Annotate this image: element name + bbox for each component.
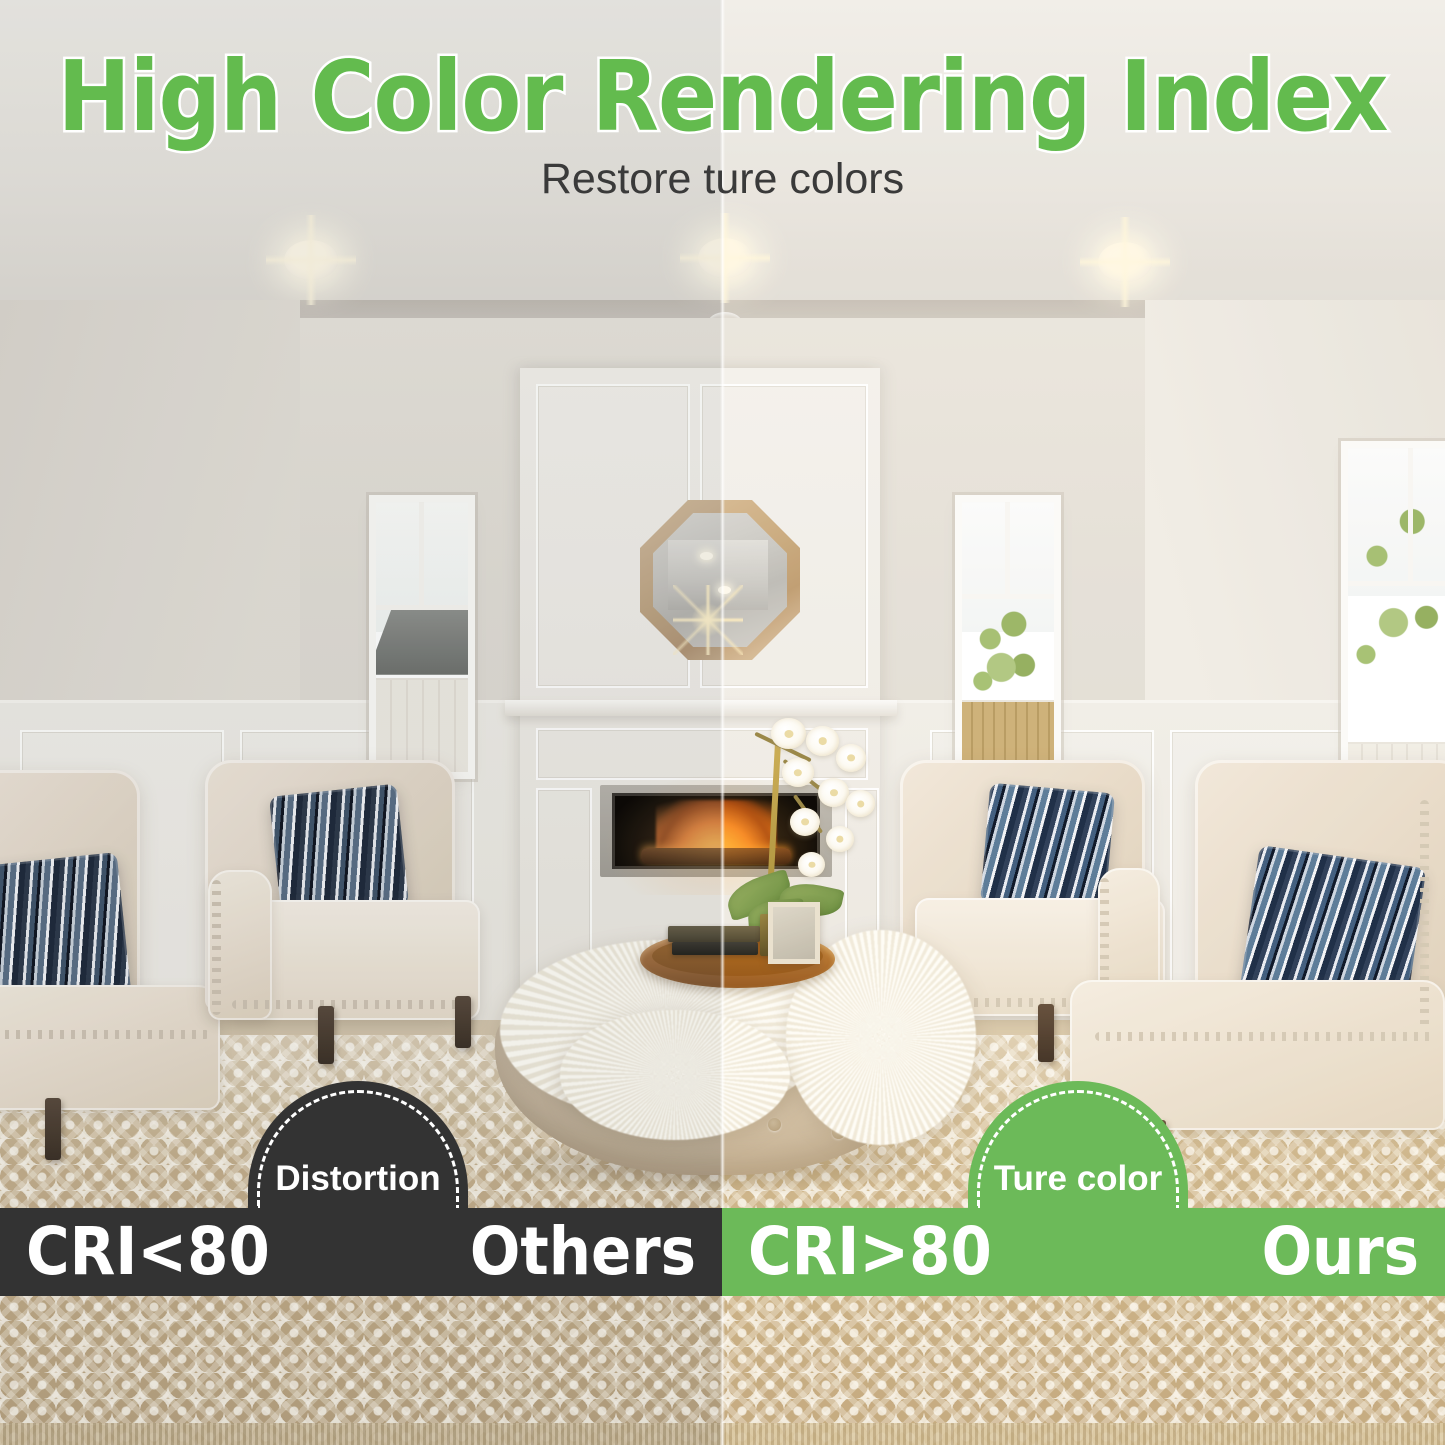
badge-distortion-label: Distortion — [248, 1159, 468, 1199]
window-mullion — [1005, 502, 1010, 599]
window-mullion — [419, 502, 424, 610]
window-tree-view — [968, 599, 1042, 712]
striped-pillow — [980, 783, 1115, 913]
window-left — [376, 502, 468, 772]
window-mullion — [376, 605, 468, 610]
mirror-light-reflection-icon — [700, 552, 713, 560]
window-mullion — [1408, 448, 1413, 581]
mirror-sparkle-icon — [673, 585, 743, 655]
picture-frame — [768, 902, 820, 964]
orchid-flower-icon — [771, 718, 806, 749]
orchid-flower-icon — [806, 726, 839, 756]
fur-throw — [560, 1010, 790, 1140]
window-roof-view — [376, 610, 468, 675]
window-center-right — [962, 502, 1054, 772]
comparison-bar-right: CRI>80 Ours — [722, 1208, 1445, 1296]
ottoman-tuft — [768, 1118, 781, 1131]
recessed-light-icon — [698, 238, 752, 278]
orchid-flower-icon — [798, 852, 825, 877]
firebox — [612, 793, 820, 869]
cri-low-value: CRI<80 — [26, 1219, 270, 1285]
window-fence-view — [376, 678, 468, 772]
orchid-flower-icon — [836, 744, 866, 772]
octagon-mirror — [640, 500, 800, 660]
badge-true-color-label: Ture color — [968, 1159, 1188, 1199]
comparison-bar-left: CRI<80 Others — [0, 1208, 722, 1296]
page-subtitle: Restore ture colors — [0, 155, 1445, 204]
orchid-flower-icon — [782, 758, 814, 787]
picture-frame-photo — [773, 907, 815, 959]
product-comparison-image: High Color Rendering Index Restore ture … — [0, 0, 1445, 1445]
window-tree-view — [1348, 463, 1445, 729]
book — [668, 926, 760, 942]
orchid-flower-icon — [818, 778, 849, 807]
recessed-light-icon — [284, 240, 338, 280]
window-mullion — [962, 594, 1054, 599]
brand-ours-label: Ours — [1262, 1219, 1419, 1285]
orchid-flower-icon — [826, 826, 854, 852]
orchid-flower-icon — [846, 790, 875, 817]
page-title: High Color Rendering Index — [0, 48, 1445, 147]
recessed-light-icon — [1098, 242, 1152, 282]
cri-high-value: CRI>80 — [748, 1219, 992, 1285]
brand-others-label: Others — [470, 1219, 696, 1285]
orchid-flower-icon — [790, 808, 820, 836]
window-mullion — [1348, 581, 1445, 586]
fireplace-mantel — [505, 700, 897, 716]
rug-fringe — [0, 1423, 1445, 1445]
striped-pillow — [269, 784, 409, 919]
book — [672, 942, 758, 955]
